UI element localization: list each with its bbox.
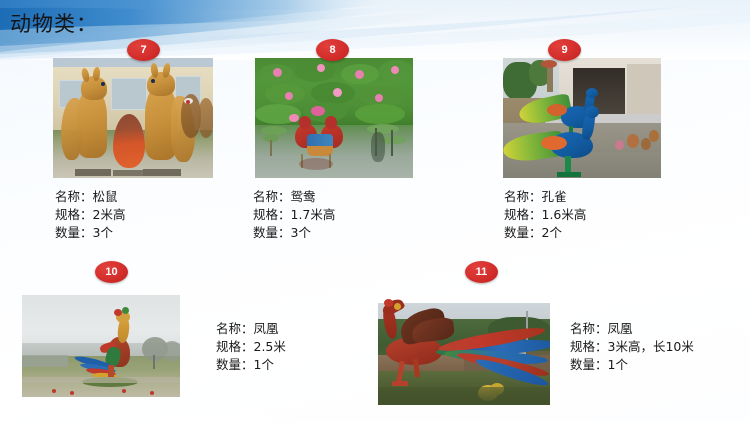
item-1-spec: 规格：2米高 (55, 206, 125, 224)
photo-phoenix-long (378, 293, 550, 405)
item-5-name: 名称：凤凰 (570, 320, 694, 338)
caption-phoenix-field: 名称：凤凰 规格：2.5米 数量：1个 (216, 320, 286, 374)
photo-mandarin-duck (255, 58, 413, 178)
photo-peacock (503, 58, 661, 178)
item-5-spec: 规格：3米高，长10米 (570, 338, 694, 356)
caption-mandarin-duck: 名称：鸳鸯 规格：1.7米高 数量：3个 (253, 188, 335, 242)
item-4-name: 名称：凤凰 (216, 320, 286, 338)
slide-canvas: 动物类： 7 (0, 0, 750, 422)
badge-9: 9 (548, 39, 581, 61)
page-title: 动物类： (10, 11, 98, 37)
item-1-name: 名称：松鼠 (55, 188, 125, 206)
item-4-spec: 规格：2.5米 (216, 338, 286, 356)
item-3-name: 名称：孔雀 (504, 188, 586, 206)
item-4-qty: 数量：1个 (216, 356, 286, 374)
item-2-spec: 规格：1.7米高 (253, 206, 335, 224)
item-1-qty: 数量：3个 (55, 224, 125, 242)
photo-phoenix-field (22, 295, 180, 397)
item-5-qty: 数量：1个 (570, 356, 694, 374)
caption-squirrel: 名称：松鼠 规格：2米高 数量：3个 (55, 188, 125, 242)
badge-8: 8 (316, 39, 349, 61)
item-3-spec: 规格：1.6米高 (504, 206, 586, 224)
item-2-qty: 数量：3个 (253, 224, 335, 242)
badge-11: 11 (465, 261, 498, 283)
photo-squirrel (53, 58, 213, 178)
badge-10: 10 (95, 261, 128, 283)
item-2-name: 名称：鸳鸯 (253, 188, 335, 206)
badge-7: 7 (127, 39, 160, 61)
caption-peacock: 名称：孔雀 规格：1.6米高 数量：2个 (504, 188, 586, 242)
item-3-qty: 数量：2个 (504, 224, 586, 242)
header-wave-graphic (0, 0, 750, 60)
caption-phoenix-long: 名称：凤凰 规格：3米高，长10米 数量：1个 (570, 320, 694, 374)
header-banner: 动物类： (0, 0, 750, 60)
